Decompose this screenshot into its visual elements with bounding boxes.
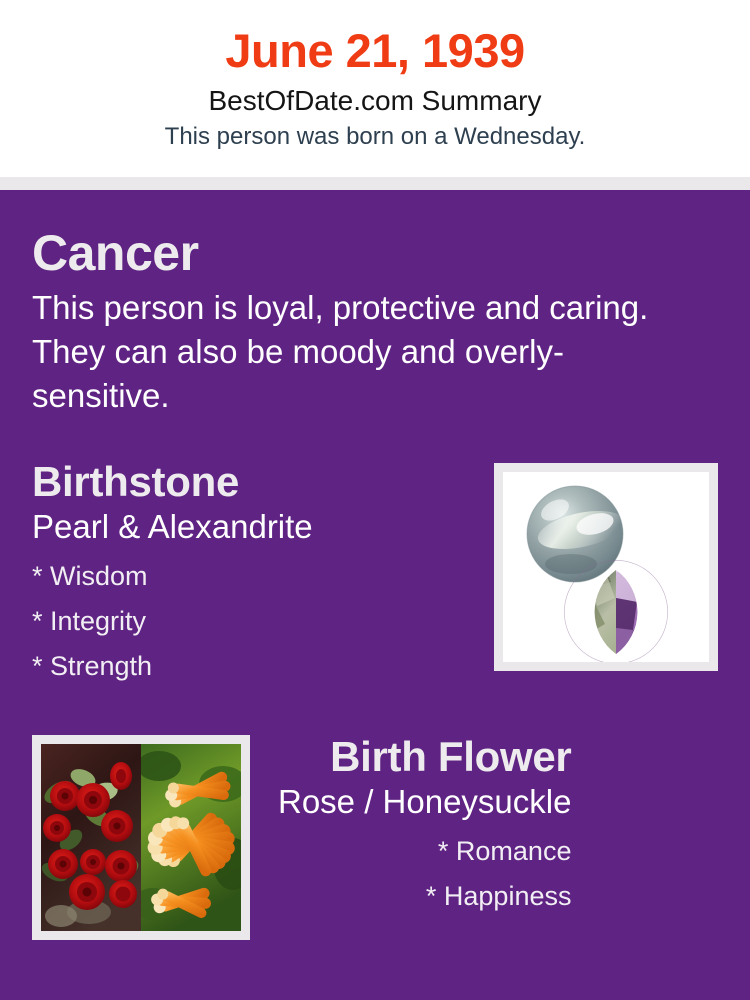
list-item: * Integrity (32, 599, 494, 644)
birthstone-image (503, 472, 709, 662)
birthstone-section: Birthstone Pearl & Alexandrite * Wisdom … (32, 456, 718, 689)
summary-panel: Cancer This person is loyal, protective … (0, 190, 750, 1000)
header-divider (0, 177, 750, 190)
zodiac-section: Cancer This person is loyal, protective … (32, 190, 718, 418)
birthstone-trait-list: * Wisdom * Integrity * Strength (32, 554, 494, 689)
list-item: * Romance (278, 829, 571, 874)
birth-flower-image-frame (32, 735, 250, 940)
birthstone-name: Pearl & Alexandrite (32, 506, 494, 548)
birth-flower-trait-list: * Romance * Happiness (278, 829, 571, 919)
birth-day-note: This person was born on a Wednesday. (0, 121, 750, 153)
zodiac-description: This person is loyal, protective and car… (32, 286, 652, 418)
birthstone-heading: Birthstone (32, 456, 494, 508)
birth-flower-heading: Birth Flower (278, 731, 571, 783)
pearl-and-alexandrite-icon (503, 472, 709, 662)
site-summary-label: BestOfDate.com Summary (0, 82, 750, 120)
rose-and-honeysuckle-icon (41, 744, 241, 931)
birthstone-text-block: Birthstone Pearl & Alexandrite * Wisdom … (32, 456, 494, 689)
birth-flower-name: Rose / Honeysuckle (278, 781, 571, 823)
zodiac-sign-title: Cancer (32, 222, 718, 284)
birthstone-image-frame (494, 463, 718, 671)
birth-flower-text-block: Birth Flower Rose / Honeysuckle * Romanc… (278, 731, 571, 919)
list-item: * Strength (32, 644, 494, 689)
page-header: June 21, 1939 BestOfDate.com Summary Thi… (0, 0, 750, 177)
birth-flower-section: Birth Flower Rose / Honeysuckle * Romanc… (32, 731, 718, 940)
birth-flower-image (41, 744, 241, 931)
list-item: * Happiness (278, 874, 571, 919)
list-item: * Wisdom (32, 554, 494, 599)
page-title-date: June 21, 1939 (0, 22, 750, 80)
